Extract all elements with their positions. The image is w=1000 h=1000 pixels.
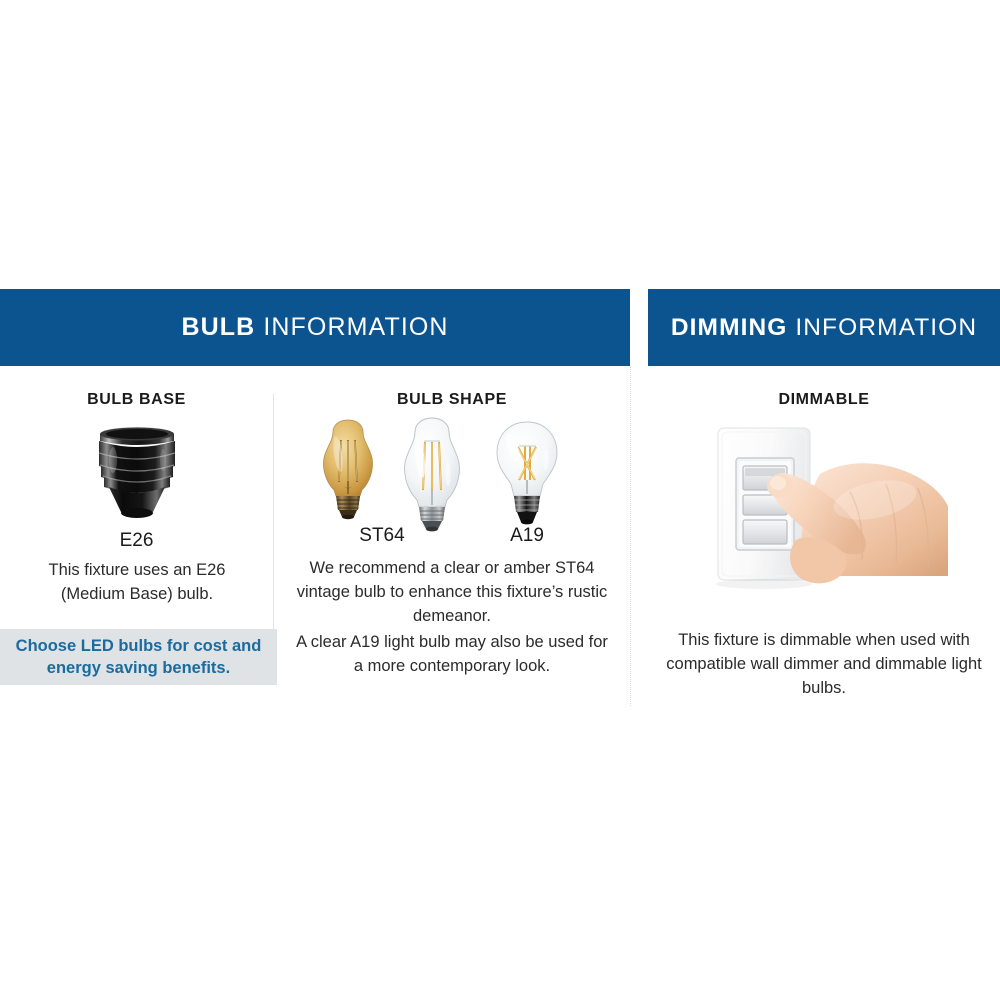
led-tip-callout: Choose LED bulbs for cost and energy sav… bbox=[0, 629, 277, 685]
led-tip-text: Choose LED bulbs for cost and energy sav… bbox=[0, 635, 277, 679]
hand-pressing-wall-dimmer-switch-photo bbox=[700, 414, 952, 604]
panel-edge-guide-left bbox=[630, 366, 631, 706]
e26-bulb-base-photo bbox=[91, 424, 183, 524]
bulb-base-caption: This fixture uses an E26 (Medium Base) b… bbox=[18, 558, 256, 606]
dimmable-title: DIMMABLE bbox=[648, 391, 1000, 409]
a19-label: A19 bbox=[477, 525, 577, 547]
dimming-header-rest: INFORMATION bbox=[795, 314, 977, 341]
bulb-base-label: E26 bbox=[0, 530, 273, 552]
dimming-information-panel: DIMMING INFORMATION DIMMABLE bbox=[648, 289, 1000, 709]
st64-label: ST64 bbox=[332, 525, 432, 547]
bulb-information-header: BULB INFORMATION bbox=[0, 289, 630, 366]
bulb-header-strong: BULB bbox=[181, 313, 255, 341]
dimming-information-header: DIMMING INFORMATION bbox=[648, 289, 1000, 366]
bulb-shape-images bbox=[274, 414, 630, 524]
bulb-shape-title: BULB SHAPE bbox=[274, 391, 630, 409]
st64-clear-bulb-photo bbox=[384, 414, 480, 536]
bulb-header-rest: INFORMATION bbox=[263, 313, 448, 341]
a19-clear-bulb-photo bbox=[479, 414, 575, 532]
bulb-information-panel: BULB INFORMATION BULB BASE bbox=[0, 289, 630, 709]
bulb-information-header-text: BULB INFORMATION bbox=[181, 313, 448, 342]
dimming-header-strong: DIMMING bbox=[671, 314, 788, 341]
bulb-shape-labels: ST64 A19 bbox=[274, 525, 630, 551]
bulb-shape-paragraph-2: A clear A19 light bulb may also be used … bbox=[292, 630, 612, 678]
bulb-base-title: BULB BASE bbox=[0, 391, 273, 409]
bulb-panel-body: BULB BASE bbox=[0, 366, 630, 709]
st64-amber-bulb-photo bbox=[300, 414, 396, 526]
dimming-panel-body: DIMMABLE bbox=[648, 366, 1000, 709]
dimmable-caption: This fixture is dimmable when used with … bbox=[662, 628, 986, 700]
dimming-information-header-text: DIMMING INFORMATION bbox=[671, 314, 977, 342]
infographic-canvas: BULB INFORMATION BULB BASE bbox=[0, 0, 1000, 1000]
bulb-shape-paragraph-1: We recommend a clear or amber ST64 vinta… bbox=[292, 556, 612, 628]
